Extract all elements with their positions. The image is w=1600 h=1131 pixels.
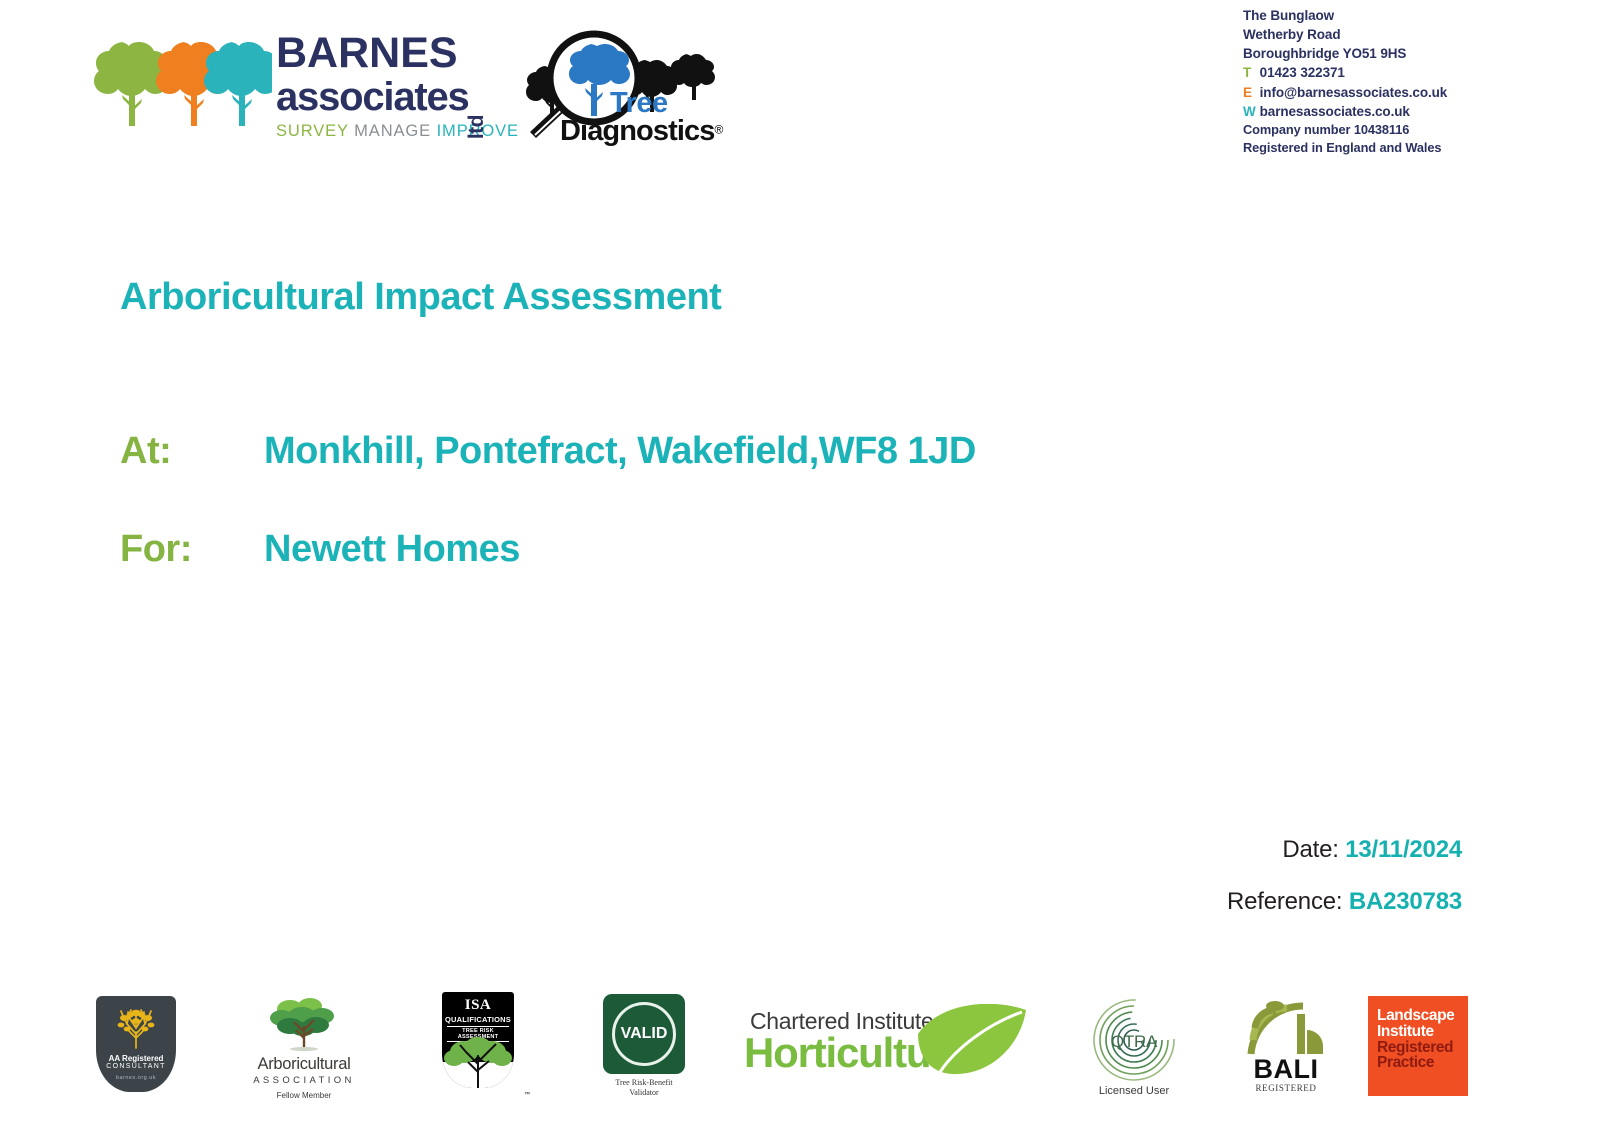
web-prefix: W	[1243, 102, 1256, 121]
at-label: At:	[120, 430, 264, 473]
address-line-3: Boroughbridge YO51 9HS	[1243, 44, 1583, 63]
address-email-row: E info@barnesassociates.co.uk	[1243, 83, 1583, 102]
date-label: Date:	[1282, 836, 1338, 863]
aa-registered-consultant-logo: AA Registered CONSULTANT barnes.org.uk	[96, 996, 180, 1100]
isa-line-2: QUALIFICATIONS	[442, 1015, 514, 1024]
barnes-wordmark-bottom: associates	[276, 75, 469, 119]
phone-value: 01423 322371	[1260, 65, 1345, 80]
arb-line-2: ASSOCIATION	[248, 1075, 360, 1086]
at-value: Monkhill, Pontefract, Wakefield,WF8 1JD	[264, 430, 976, 472]
email-value[interactable]: info@barnesassociates.co.uk	[1260, 85, 1448, 100]
tree-diagnostics-logo: Tree Diagnostics®	[516, 28, 716, 146]
li-line-1: Landscape	[1377, 1008, 1468, 1024]
barnes-associates-logo: BARNES associates ltd SURVEY MANAGE IMPR…	[86, 28, 486, 146]
bali-landscape-icon	[1245, 996, 1327, 1058]
aa-line-3: barnes.org.uk	[96, 1075, 176, 1081]
company-address-block: The Bunglaow Wetherby Road Boroughbridge…	[1243, 6, 1583, 157]
valid-caption: Tree Risk-Benefit Validator	[598, 1078, 690, 1098]
address-line-1: The Bunglaow	[1243, 6, 1583, 25]
valid-logo: VALID Tree Risk-Benefit Validator	[598, 994, 690, 1106]
address-web-row: W barnesassociates.co.uk	[1243, 102, 1583, 121]
isa-qualifications-logo: ISA QUALIFICATIONS TREE RISK ASSESSMENT …	[442, 992, 522, 1104]
tagline-survey: SURVEY	[276, 122, 349, 140]
qtra-word: QTRA	[1089, 1032, 1179, 1052]
reference-label: Reference:	[1227, 888, 1342, 915]
gold-tree-icon	[114, 1008, 158, 1052]
valid-word: VALID	[603, 1025, 685, 1043]
barnes-wordmark: BARNES associates ltd SURVEY MANAGE IMPR…	[276, 32, 486, 140]
bali-word: BALI	[1240, 1056, 1332, 1083]
tree-diagnostics-wordmark: Tree Diagnostics®	[560, 90, 720, 145]
valid-caption-line-1: Tree Risk-Benefit	[598, 1078, 690, 1088]
for-label: For:	[120, 528, 264, 571]
arb-line-3: Fellow Member	[248, 1091, 360, 1100]
three-trees-icon	[86, 28, 272, 138]
address-line-2: Wetherby Road	[1243, 25, 1583, 44]
valid-caption-line-2: Validator	[598, 1088, 690, 1098]
for-value: Newett Homes	[264, 528, 520, 570]
tree-diagnostics-word-diagnostics-row: Diagnostics®	[560, 118, 720, 146]
green-tree-icon	[266, 996, 342, 1054]
isa-trademark-icon: ™	[524, 1092, 530, 1098]
aa-line-1: AA Registered	[96, 1054, 176, 1063]
reference-row: Reference: BA230783	[962, 888, 1462, 916]
qtra-caption: Licensed User	[1082, 1085, 1186, 1097]
tree-diagnostics-word-diagnostics: Diagnostics	[560, 115, 714, 147]
phone-prefix: T	[1243, 63, 1256, 82]
reference-value: BA230783	[1349, 888, 1462, 915]
valid-badge-icon: VALID	[603, 994, 685, 1074]
li-line-4: Practice	[1377, 1055, 1468, 1071]
landscape-institute-logo: Landscape Institute Registered Practice	[1368, 996, 1472, 1100]
arb-line-1: Arboricultural	[248, 1055, 360, 1074]
bali-logo: BALI REGISTERED	[1240, 996, 1332, 1104]
li-line-3: Registered	[1377, 1040, 1468, 1056]
isa-line-1: ISA	[442, 997, 514, 1014]
tree-diagnostics-word-tree: Tree	[610, 90, 720, 118]
isa-tree-icon	[442, 1036, 514, 1088]
aa-line-2: CONSULTANT	[96, 1063, 176, 1070]
leaf-icon	[910, 1004, 1030, 1082]
barnes-tagline: SURVEY MANAGE IMPROVE	[276, 122, 486, 141]
email-prefix: E	[1243, 83, 1256, 102]
page-header: BARNES associates ltd SURVEY MANAGE IMPR…	[0, 0, 1600, 170]
page-title: Arboricultural Impact Assessment	[120, 276, 721, 319]
chartered-institute-of-horticulture-logo: Chartered Institute of Horticulture	[744, 1008, 1030, 1088]
site-address-row: At:Monkhill, Pontefract, Wakefield,WF8 1…	[120, 430, 976, 473]
li-line-2: Institute	[1377, 1024, 1468, 1040]
landscape-institute-badge: Landscape Institute Registered Practice	[1368, 996, 1468, 1096]
bali-caption: REGISTERED	[1240, 1083, 1332, 1093]
isa-shield-icon: ISA QUALIFICATIONS TREE RISK ASSESSMENT	[442, 992, 514, 1088]
registered-trademark-icon: ®	[714, 122, 723, 136]
barnes-wordmark-top: BARNES	[276, 32, 486, 75]
registration-statement: Registered in England and Wales	[1243, 139, 1583, 157]
website-value[interactable]: barnesassociates.co.uk	[1260, 104, 1410, 119]
tagline-manage: MANAGE	[354, 122, 431, 140]
qtra-logo: QTRA Licensed User	[1082, 998, 1186, 1102]
document-meta-block: Date: 13/11/2024 Reference: BA230783	[962, 836, 1462, 940]
accreditation-logos-footer: AA Registered CONSULTANT barnes.org.uk	[0, 988, 1600, 1131]
barnes-wordmark-bottom-row: associates ltd	[276, 77, 486, 117]
address-phone-row: T 01423 322371	[1243, 63, 1583, 82]
date-value: 13/11/2024	[1345, 836, 1462, 863]
client-row: For:Newett Homes	[120, 528, 520, 571]
arboricultural-association-logo: Arboricultural ASSOCIATION Fellow Member	[248, 996, 360, 1106]
date-row: Date: 13/11/2024	[962, 836, 1462, 864]
shield-icon: AA Registered CONSULTANT barnes.org.uk	[96, 996, 176, 1092]
company-number: Company number 10438116	[1243, 121, 1583, 139]
barnes-wordmark-ltd: ltd	[465, 115, 489, 139]
